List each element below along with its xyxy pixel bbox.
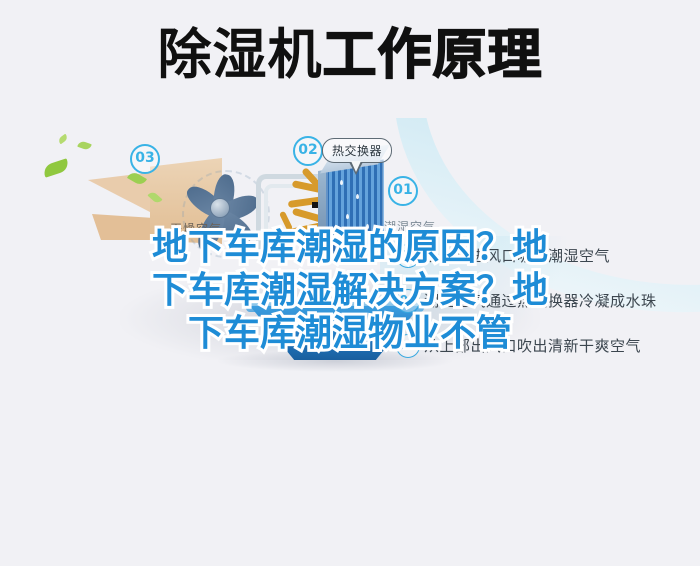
legend-row: 01 从下部进风口吸入潮湿空气 — [396, 244, 696, 289]
legend-number: 02 — [396, 289, 420, 313]
legend-number: 01 — [396, 244, 420, 268]
heat-exchanger-callout: 热交换器 — [322, 138, 392, 163]
marker-02: 02 — [293, 136, 323, 166]
title-part-1: 除湿机 — [158, 23, 323, 86]
marker-03: 03 — [130, 144, 160, 174]
water-droplet-icon — [346, 214, 349, 219]
legend-text: 潮湿空气通过热交换器冷凝成水珠 — [424, 290, 657, 311]
water-droplet-icon — [340, 180, 343, 185]
water-tank-label: 水箱 — [250, 315, 420, 331]
leaf-icon — [42, 158, 70, 177]
leaf-icon — [77, 140, 92, 151]
page-root: 除湿机工作原理 — [0, 0, 700, 566]
leaf-icon — [57, 134, 69, 145]
water-droplet-icon — [334, 230, 337, 235]
fan-hub — [210, 198, 230, 218]
water-droplet-icon — [366, 224, 369, 229]
legend-row: 02 潮湿空气通过热交换器冷凝成水珠 — [396, 289, 696, 334]
water-droplet-icon — [356, 194, 359, 199]
humid-air-label: 潮湿空气 — [384, 218, 436, 235]
dehumidifier-diagram: 水箱 干燥空气 潮湿空气 03 02 01 热交换器 01 从下部进风口吸入潮湿… — [0, 118, 700, 398]
content-card: 除湿机又称为抽湿机、干燥机、除湿器，一般可分为民用除湿机和工业除湿机两大类，属于… — [0, 398, 700, 566]
diagram-legend: 01 从下部进风口吸入潮湿空气 02 潮湿空气通过热交换器冷凝成水珠 03 从上… — [396, 244, 696, 379]
marker-01: 01 — [388, 176, 418, 206]
legend-text: 从下部进风口吸入潮湿空气 — [424, 245, 610, 266]
page-title: 除湿机工作原理 — [0, 24, 700, 86]
title-part-2: 工作原理 — [323, 23, 543, 86]
dry-air-label: 干燥空气 — [170, 220, 222, 237]
legend-text: 从上部出风口吹出清新干爽空气 — [424, 335, 641, 356]
legend-number: 03 — [396, 334, 420, 358]
legend-row: 03 从上部出风口吹出清新干爽空气 — [396, 334, 696, 379]
title-text: 除湿机工作原理 — [158, 24, 543, 86]
